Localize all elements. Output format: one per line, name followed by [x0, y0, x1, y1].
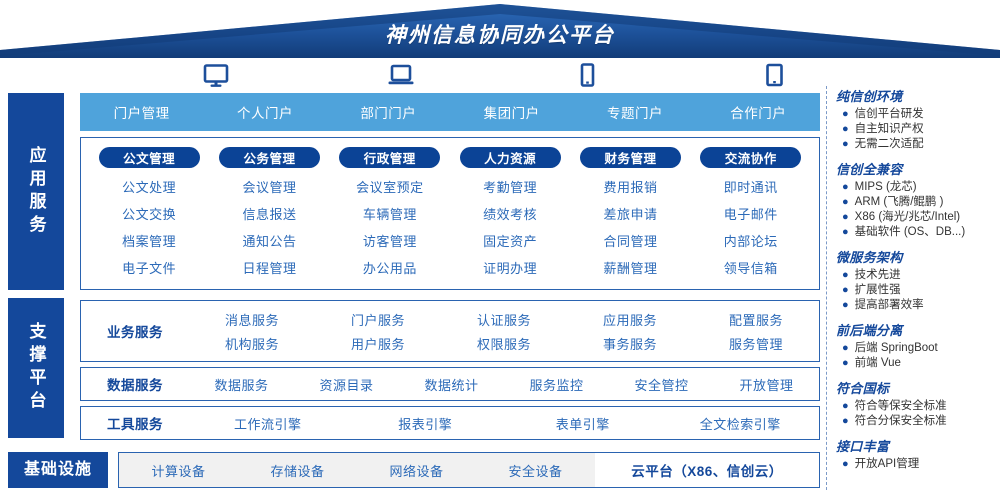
feature-group-2-heading: 微服务架构: [836, 247, 994, 266]
layer-label-support-text: 支撑平台: [28, 322, 45, 414]
portal-item-5[interactable]: 合作门户: [697, 93, 820, 131]
bullet-dot-icon: ●: [842, 268, 849, 283]
app-item[interactable]: 会议管理: [242, 174, 296, 201]
support-row-tool-title: 工具服务: [81, 413, 189, 433]
app-item[interactable]: 车辆管理: [363, 201, 417, 228]
device-icon-row: [80, 60, 820, 93]
bullet-dot-icon: ●: [842, 457, 849, 472]
support-item[interactable]: 事务服务: [567, 334, 693, 353]
layer-label-application: 应用服务: [8, 93, 64, 290]
app-column-3: 人力资源 考勤管理 绩效考核 固定资产 证明办理: [450, 147, 570, 283]
diagram-root: 神州信息协同办公平台: [0, 0, 1000, 500]
app-column-4-title[interactable]: 财务管理: [580, 147, 681, 168]
support-row-data: 数据服务 数据服务 资源目录 数据统计 服务监控 安全管控 开放管理: [80, 367, 820, 401]
support-item[interactable]: 认证服务: [441, 310, 567, 329]
support-row-data-title: 数据服务: [81, 374, 189, 394]
support-business-grid: 消息服务 门户服务 认证服务 应用服务 配置服务 机构服务 用户服务 权限服务 …: [189, 310, 819, 353]
support-item[interactable]: 服务监控: [504, 375, 609, 394]
support-item[interactable]: 安全管控: [609, 375, 714, 394]
support-item[interactable]: 门户服务: [315, 310, 441, 329]
app-item[interactable]: 日程管理: [242, 255, 296, 282]
app-item[interactable]: 电子文件: [122, 255, 176, 282]
support-item[interactable]: 开放管理: [714, 375, 819, 394]
feature-item: ●技术先进: [836, 268, 994, 283]
bullet-dot-icon: ●: [842, 107, 849, 122]
feature-sidebar: 纯信创环境 ●信创平台研发 ●自主知识产权 ●无需二次适配 信创全兼容 ●MIP…: [836, 86, 994, 490]
feature-group-0: 纯信创环境 ●信创平台研发 ●自主知识产权 ●无需二次适配: [836, 86, 994, 152]
feature-item: ●前端 Vue: [836, 356, 994, 371]
support-tool-items: 工作流引擎 报表引擎 表单引擎 全文检索引擎: [189, 414, 819, 433]
title-banner: 神州信息协同办公平台: [0, 0, 1000, 58]
bullet-dot-icon: ●: [842, 180, 849, 195]
app-item[interactable]: 访客管理: [363, 228, 417, 255]
feature-item: ●自主知识产权: [836, 122, 994, 137]
infrastructure-cloud-platform[interactable]: 云平台（X86、信创云）: [595, 453, 819, 487]
feature-item: ●扩展性强: [836, 283, 994, 298]
layer-label-infrastructure-text: 基础设施: [24, 462, 92, 478]
app-item[interactable]: 办公用品: [363, 255, 417, 282]
feature-group-3: 前后端分离 ●后端 SpringBoot ●前端 Vue: [836, 320, 994, 371]
infrastructure-item[interactable]: 安全设备: [476, 453, 595, 487]
feature-item-label: 符合等保安全标准: [855, 399, 947, 414]
support-data-items: 数据服务 资源目录 数据统计 服务监控 安全管控 开放管理: [189, 375, 819, 394]
portal-item-3[interactable]: 集团门户: [450, 93, 573, 131]
support-item[interactable]: 表单引擎: [504, 414, 662, 433]
desktop-monitor-icon: [202, 62, 230, 95]
app-item[interactable]: 固定资产: [483, 228, 537, 255]
app-column-5-title[interactable]: 交流协作: [700, 147, 801, 168]
app-column-2: 行政管理 会议室预定 车辆管理 访客管理 办公用品: [330, 147, 450, 283]
support-item[interactable]: 用户服务: [315, 334, 441, 353]
feature-group-5: 接口丰富 ●开放API管理: [836, 436, 994, 472]
feature-item-label: 开放API管理: [855, 457, 920, 472]
feature-item: ●X86 (海光/兆芯/Intel): [836, 210, 994, 225]
app-item[interactable]: 费用报销: [603, 174, 657, 201]
app-item[interactable]: 证明办理: [483, 255, 537, 282]
feature-group-2: 微服务架构 ●技术先进 ●扩展性强 ●提高部署效率: [836, 247, 994, 313]
feature-item-label: 自主知识产权: [855, 122, 924, 137]
app-item[interactable]: 档案管理: [122, 228, 176, 255]
support-item[interactable]: 工作流引擎: [189, 414, 347, 433]
feature-item-label: 无需二次适配: [855, 137, 924, 152]
app-item[interactable]: 差旅申请: [603, 201, 657, 228]
support-business-row-2: 机构服务 用户服务 权限服务 事务服务 服务管理: [189, 334, 819, 353]
app-item[interactable]: 即时通讯: [724, 174, 778, 201]
application-services-panel: 公文管理 公文处理 公文交换 档案管理 电子文件 公务管理 会议管理 信息报送 …: [80, 137, 820, 290]
support-item[interactable]: 服务管理: [693, 334, 819, 353]
app-column-0: 公文管理 公文处理 公文交换 档案管理 电子文件: [89, 147, 209, 283]
feature-group-3-heading: 前后端分离: [836, 320, 994, 339]
feature-item: ●后端 SpringBoot: [836, 341, 994, 356]
app-column-5: 交流协作 即时通讯 电子邮件 内部论坛 领导信箱: [691, 147, 811, 283]
bullet-dot-icon: ●: [842, 137, 849, 152]
portal-item-4[interactable]: 专题门户: [573, 93, 696, 131]
feature-item: ●无需二次适配: [836, 137, 994, 152]
app-item[interactable]: 领导信箱: [724, 255, 778, 282]
app-column-3-title[interactable]: 人力资源: [460, 147, 561, 168]
app-item[interactable]: 薪酬管理: [603, 255, 657, 282]
app-item[interactable]: 考勤管理: [483, 174, 537, 201]
feature-item-label: X86 (海光/兆芯/Intel): [855, 210, 960, 225]
bullet-dot-icon: ●: [842, 414, 849, 429]
support-row-business: 业务服务 消息服务 门户服务 认证服务 应用服务 配置服务 机构服务 用户服务 …: [80, 300, 820, 362]
vertical-dashed-divider: [826, 86, 827, 490]
app-item[interactable]: 内部论坛: [724, 228, 778, 255]
app-item[interactable]: 电子邮件: [724, 201, 778, 228]
feature-item-label: 扩展性强: [855, 283, 901, 298]
support-row-tool: 工具服务 工作流引擎 报表引擎 表单引擎 全文检索引擎: [80, 406, 820, 440]
app-item[interactable]: 绩效考核: [483, 201, 537, 228]
feature-item: ●开放API管理: [836, 457, 994, 472]
bullet-dot-icon: ●: [842, 122, 849, 137]
page-title: 神州信息协同办公平台: [0, 23, 1000, 49]
feature-item: ●ARM (飞腾/鲲鹏 ): [836, 195, 994, 210]
layer-label-support: 支撑平台: [8, 298, 64, 438]
app-column-4: 财务管理 费用报销 差旅申请 合同管理 薪酬管理: [570, 147, 690, 283]
support-item[interactable]: 数据统计: [399, 375, 504, 394]
bullet-dot-icon: ●: [842, 225, 849, 240]
app-column-0-title[interactable]: 公文管理: [99, 147, 200, 168]
bullet-dot-icon: ●: [842, 283, 849, 298]
feature-item: ●提高部署效率: [836, 298, 994, 313]
bullet-dot-icon: ●: [842, 210, 849, 225]
app-item[interactable]: 会议室预定: [356, 174, 424, 201]
app-item[interactable]: 公文交换: [122, 201, 176, 228]
app-item[interactable]: 通知公告: [242, 228, 296, 255]
support-item[interactable]: 数据服务: [189, 375, 294, 394]
infrastructure-item[interactable]: 存储设备: [238, 453, 357, 487]
feature-item: ●基础软件 (OS、DB...): [836, 225, 994, 240]
feature-item-label: MIPS (龙芯): [855, 180, 917, 195]
feature-item-label: 信创平台研发: [855, 107, 924, 122]
portal-item-1[interactable]: 个人门户: [203, 93, 326, 131]
laptop-icon: [387, 62, 415, 95]
portal-item-2[interactable]: 部门门户: [327, 93, 450, 131]
feature-item-label: 基础软件 (OS、DB...): [855, 225, 966, 240]
app-column-1: 公务管理 会议管理 信息报送 通知公告 日程管理: [209, 147, 329, 283]
support-item[interactable]: 全文检索引擎: [662, 414, 820, 433]
infrastructure-devices: 计算设备 存储设备 网络设备 安全设备: [119, 453, 595, 487]
support-business-row-1: 消息服务 门户服务 认证服务 应用服务 配置服务: [189, 310, 819, 329]
feature-group-4-heading: 符合国标: [836, 378, 994, 397]
feature-item-label: 技术先进: [855, 268, 901, 283]
layer-label-infrastructure: 基础设施: [8, 452, 108, 488]
infrastructure-item[interactable]: 计算设备: [119, 453, 238, 487]
feature-group-5-heading: 接口丰富: [836, 436, 994, 455]
support-item[interactable]: 权限服务: [441, 334, 567, 353]
layer-label-application-text: 应用服务: [28, 146, 45, 238]
bullet-dot-icon: ●: [842, 341, 849, 356]
support-item[interactable]: 消息服务: [189, 310, 315, 329]
feature-item: ●MIPS (龙芯): [836, 180, 994, 195]
support-item[interactable]: 资源目录: [294, 375, 399, 394]
support-item[interactable]: 应用服务: [567, 310, 693, 329]
feature-item: ●符合分保安全标准: [836, 414, 994, 429]
infrastructure-item[interactable]: 网络设备: [357, 453, 476, 487]
feature-item-label: 符合分保安全标准: [855, 414, 947, 429]
feature-item-label: ARM (飞腾/鲲鹏 ): [855, 195, 944, 210]
feature-item-label: 前端 Vue: [855, 356, 901, 371]
feature-group-0-heading: 纯信创环境: [836, 86, 994, 105]
app-item[interactable]: 合同管理: [603, 228, 657, 255]
support-item[interactable]: 配置服务: [693, 310, 819, 329]
feature-item: ●信创平台研发: [836, 107, 994, 122]
app-item[interactable]: 信息报送: [242, 201, 296, 228]
infrastructure-row: 计算设备 存储设备 网络设备 安全设备 云平台（X86、信创云）: [118, 452, 820, 488]
support-row-business-title: 业务服务: [81, 321, 189, 341]
portal-bar: 门户管理 个人门户 部门门户 集团门户 专题门户 合作门户: [80, 93, 820, 131]
feature-group-1: 信创全兼容 ●MIPS (龙芯) ●ARM (飞腾/鲲鹏 ) ●X86 (海光/…: [836, 159, 994, 240]
support-item[interactable]: 报表引擎: [347, 414, 505, 433]
feature-group-1-heading: 信创全兼容: [836, 159, 994, 178]
bullet-dot-icon: ●: [842, 399, 849, 414]
feature-item-label: 提高部署效率: [855, 298, 924, 313]
app-column-2-title[interactable]: 行政管理: [339, 147, 440, 168]
feature-group-4: 符合国标 ●符合等保安全标准 ●符合分保安全标准: [836, 378, 994, 429]
bullet-dot-icon: ●: [842, 298, 849, 313]
bullet-dot-icon: ●: [842, 356, 849, 371]
portal-item-0[interactable]: 门户管理: [80, 93, 203, 131]
support-item[interactable]: 机构服务: [189, 334, 315, 353]
smartphone-icon: [573, 62, 601, 95]
app-item[interactable]: 公文处理: [122, 174, 176, 201]
bullet-dot-icon: ●: [842, 195, 849, 210]
feature-item-label: 后端 SpringBoot: [855, 341, 938, 356]
tablet-icon: [760, 62, 788, 95]
feature-item: ●符合等保安全标准: [836, 399, 994, 414]
app-column-1-title[interactable]: 公务管理: [219, 147, 320, 168]
